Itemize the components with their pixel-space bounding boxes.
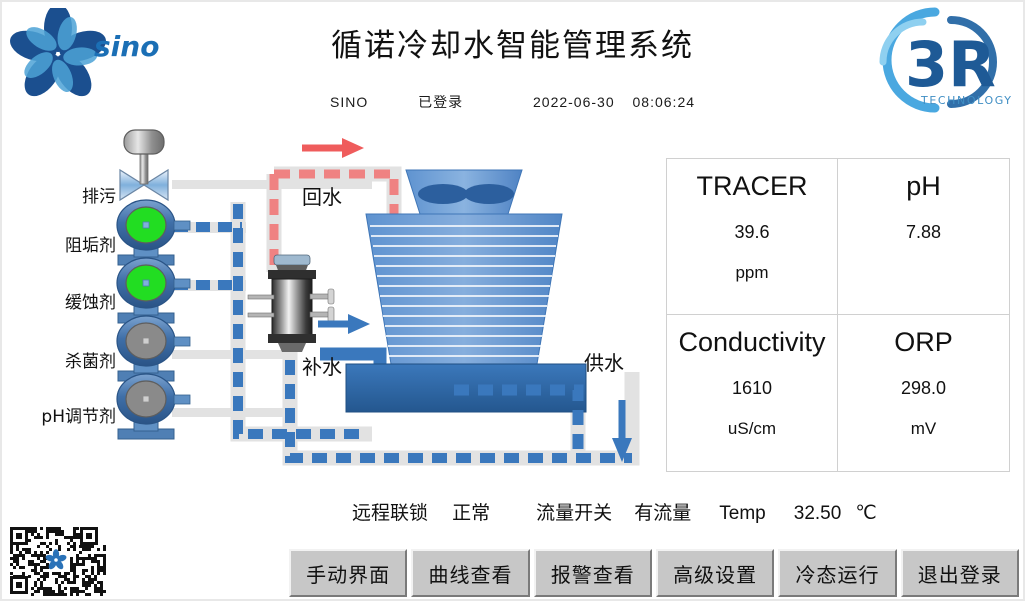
status-temperature-unit: ℃: [855, 502, 876, 525]
cold-start-run-button[interactable]: 冷态运行: [778, 549, 896, 597]
measurement-name: TRACER: [696, 171, 807, 202]
qr-code[interactable]: [6, 524, 114, 600]
measurement-name: pH: [906, 171, 941, 202]
3r-tagline: TECHNOLOGY: [920, 94, 1013, 107]
3r-technology-logo: 3R TECHNOLOGY: [865, 6, 1015, 114]
header-date: 2022-06-30: [533, 94, 615, 110]
measurement-cell-orp[interactable]: ORP 298.0 mV: [838, 315, 1009, 471]
measurement-cell-conductivity[interactable]: Conductivity 1610 uS/cm: [667, 315, 838, 471]
advanced-settings-button[interactable]: 高级设置: [656, 549, 774, 597]
measurement-unit: mV: [911, 419, 937, 439]
measurement-cell-tracer[interactable]: TRACER 39.6 ppm: [667, 159, 838, 315]
pump-biocide[interactable]: [117, 316, 190, 381]
cooling-tower: [346, 170, 586, 412]
return-flow-arrow: [302, 138, 364, 158]
fan-blade: [418, 184, 468, 204]
alarm-view-button[interactable]: 报警查看: [534, 549, 652, 597]
fan-blade: [464, 184, 514, 204]
measurement-value: 1610: [732, 378, 772, 399]
measurement-panel: TRACER 39.6 ppm pH 7.88 Conductivity 161…: [666, 158, 1010, 472]
measurement-value: 7.88: [906, 222, 941, 243]
pump-ph-adjuster[interactable]: [117, 374, 190, 439]
curve-view-button[interactable]: 曲线查看: [411, 549, 529, 597]
status-remote-interlock-value: 正常: [452, 498, 490, 525]
application-window: sino 循诺冷却水智能管理系统 SINO 已登录 2022-06-30 08:…: [0, 0, 1025, 601]
header-username: SINO: [330, 94, 368, 110]
measurement-value: 298.0: [901, 378, 946, 399]
status-flow-switch-label: 流量开关: [536, 498, 612, 525]
blowdown-valve[interactable]: [120, 130, 168, 200]
status-temperature-value: 32.50: [794, 503, 842, 525]
status-bar: 远程联锁 正常 流量开关 有流量 Temp 32.50 ℃: [352, 498, 1012, 528]
status-remote-interlock-label: 远程联锁: [352, 498, 428, 525]
manual-interface-button[interactable]: 手动界面: [289, 549, 407, 597]
measurement-cell-ph[interactable]: pH 7.88: [838, 159, 1009, 315]
process-flow-diagram: 回水 补水 供水: [2, 122, 662, 482]
measurement-name: ORP: [894, 327, 953, 358]
filter-vessel[interactable]: [248, 255, 334, 352]
bottom-button-bar: 手动界面 曲线查看 报警查看 高级设置 冷态运行 退出登录: [289, 549, 1019, 597]
measurement-value: 39.6: [734, 222, 769, 243]
status-temperature-label: Temp: [719, 503, 765, 525]
label-return-water: 回水: [302, 185, 342, 209]
measurement-name: Conductivity: [678, 327, 825, 358]
label-makeup-water: 补水: [302, 355, 342, 379]
logout-button[interactable]: 退出登录: [901, 549, 1019, 597]
label-supply-water: 供水: [584, 351, 624, 375]
header-login-state: 已登录: [418, 92, 463, 112]
header-time: 08:06:24: [633, 94, 696, 110]
3r-wordmark: 3R: [905, 28, 996, 101]
status-flow-switch-value: 有流量: [634, 498, 691, 525]
measurement-unit: uS/cm: [728, 419, 776, 439]
measurement-unit: ppm: [735, 263, 768, 283]
